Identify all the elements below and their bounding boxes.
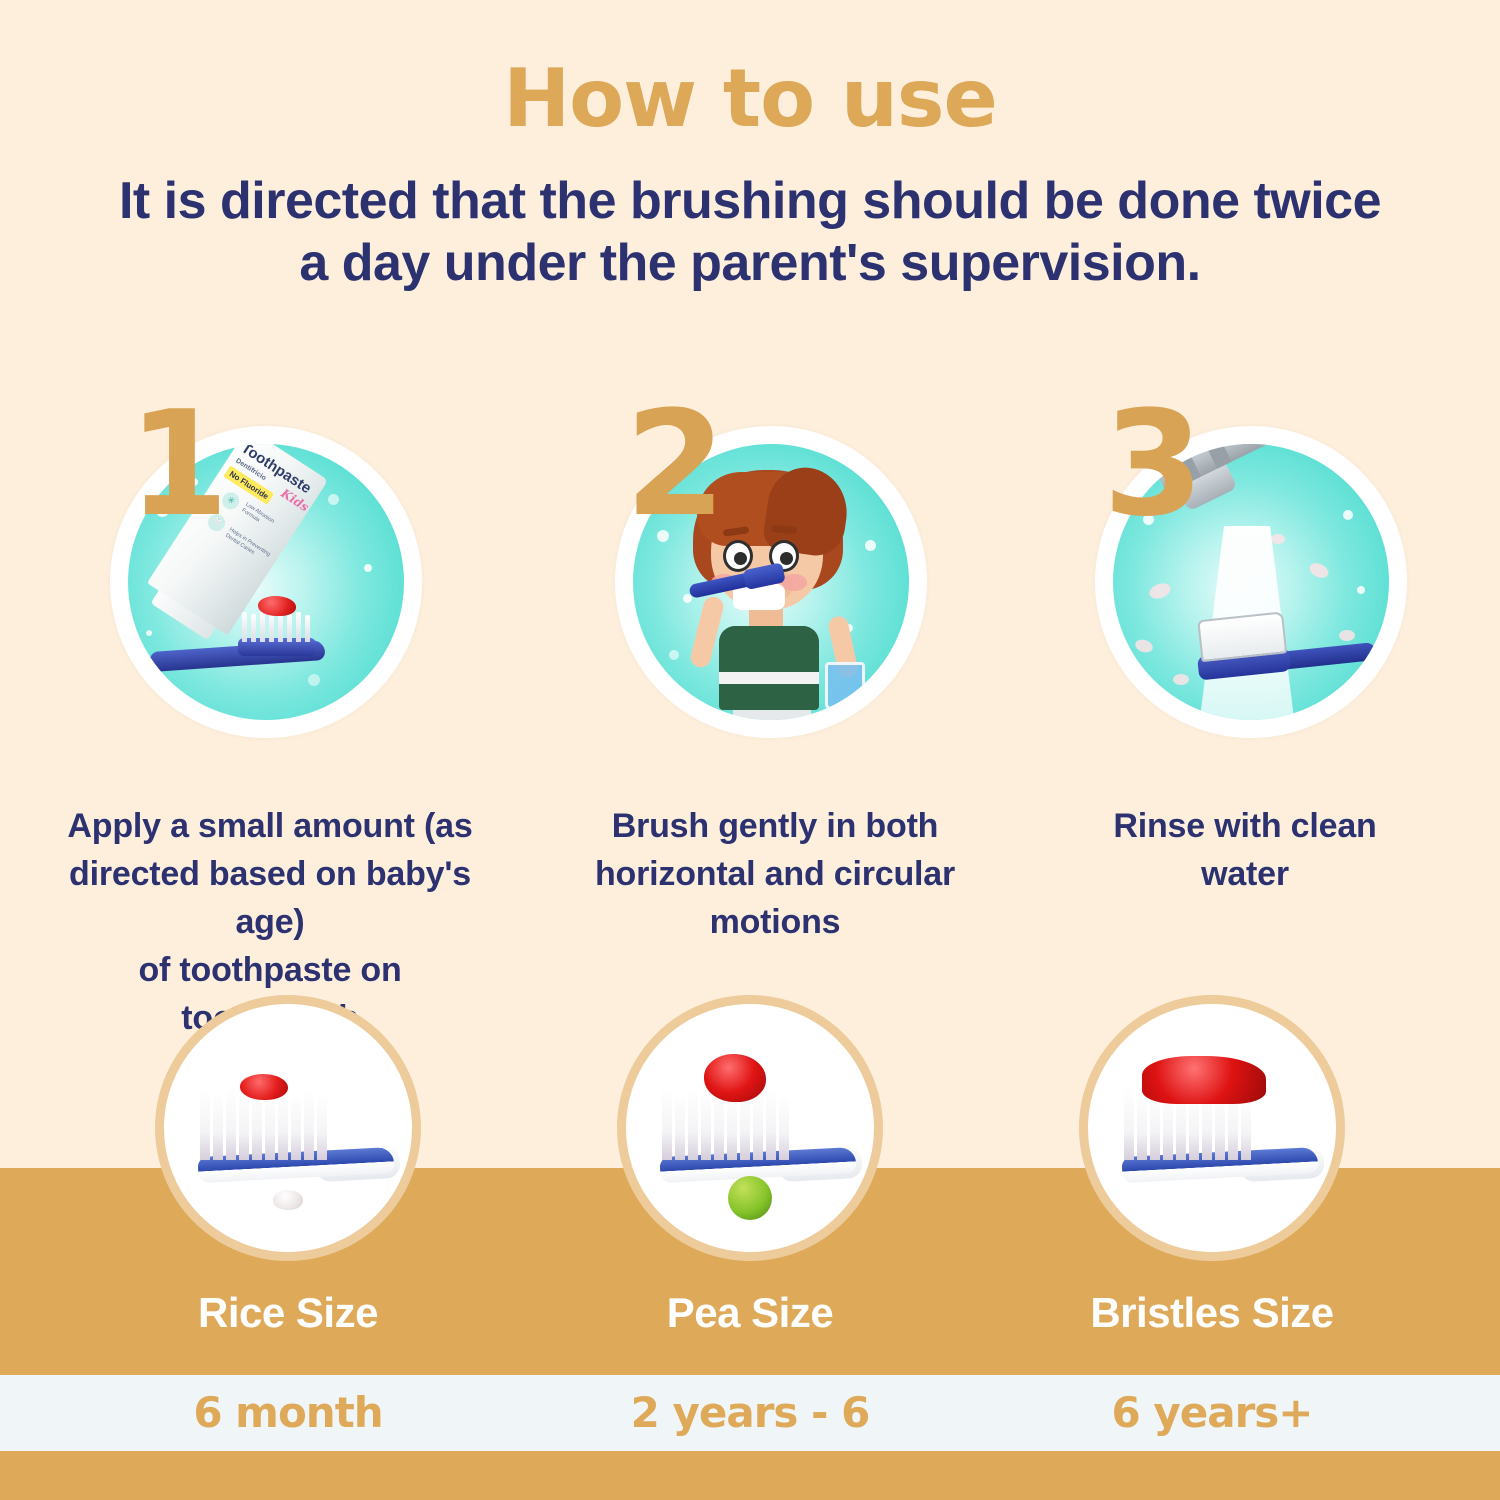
size-item-bristles: Bristles Size (1062, 995, 1362, 1337)
rice-grain-icon (273, 1190, 303, 1210)
age-label-rice: 6 month (138, 1388, 438, 1437)
age-label-pea: 2 years - 6 years (600, 1388, 900, 1486)
age-label-bristles: 6 years+ (1062, 1388, 1362, 1437)
step-3-number: 3 (1103, 392, 1204, 537)
toothpaste-amount-rice (240, 1074, 288, 1100)
size-item-pea: Pea Size (600, 995, 900, 1337)
toothpaste-amount-pea (704, 1054, 766, 1102)
size-item-rice: Rice Size (138, 995, 438, 1337)
size-guide: Rice Size Pea Size (0, 0, 1500, 1500)
toothpaste-amount-bristles (1142, 1056, 1266, 1104)
step-2-number: 2 (625, 392, 726, 537)
bristles-size-circle (1079, 995, 1345, 1261)
step-1-number: 1 (128, 392, 229, 537)
green-pea-icon (728, 1176, 772, 1220)
size-label-rice: Rice Size (138, 1289, 438, 1337)
size-label-bristles: Bristles Size (1062, 1289, 1362, 1337)
rice-size-circle (155, 995, 421, 1261)
size-label-pea: Pea Size (600, 1289, 900, 1337)
pea-size-circle (617, 995, 883, 1261)
